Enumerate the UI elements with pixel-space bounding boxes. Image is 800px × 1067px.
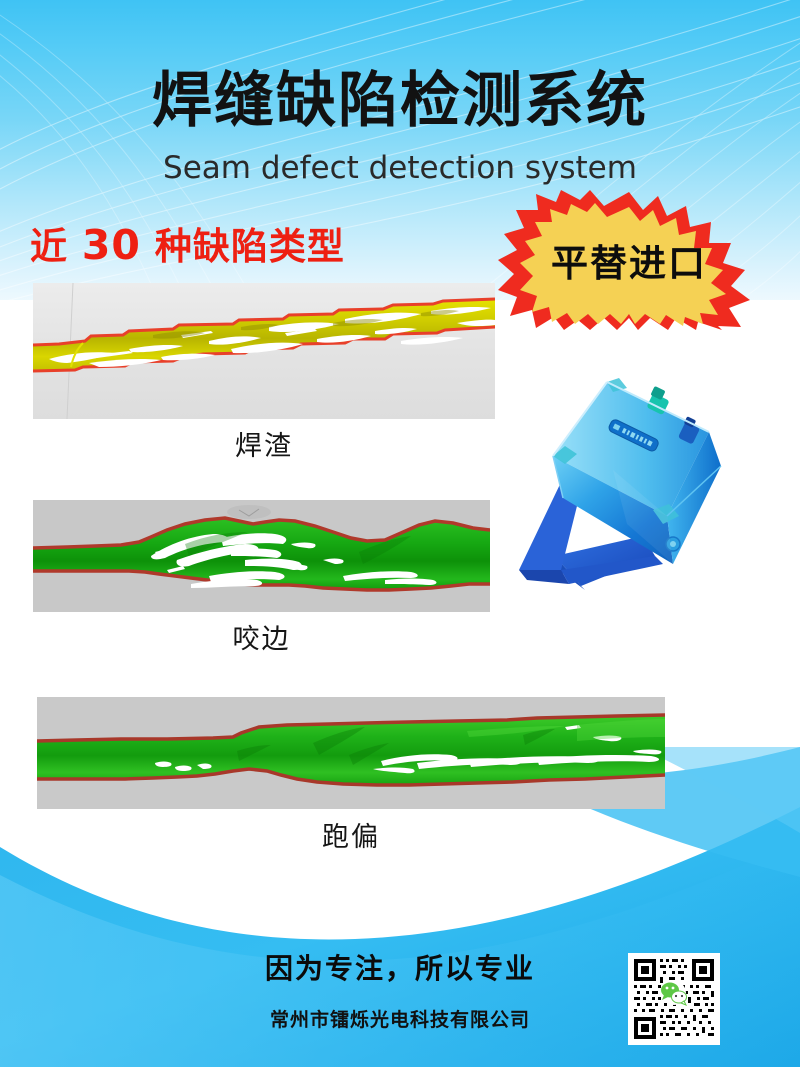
badge-label: 平替进口 xyxy=(498,190,760,330)
sample-weld-slag-image xyxy=(33,283,495,419)
wechat-qr-code-icon[interactable] xyxy=(628,953,720,1045)
sample-deviation-caption: 跑偏 xyxy=(37,815,665,854)
sample-undercut-caption: 咬边 xyxy=(33,617,490,656)
scanner-device-illustration xyxy=(495,358,730,603)
poster-root: 焊缝缺陷检测系统 Seam defect detection system 近 … xyxy=(0,0,800,1067)
sample-weld-slag-caption: 焊渣 xyxy=(33,424,495,463)
page-subtitle: Seam defect detection system xyxy=(0,150,800,186)
defect-type-count-headline: 近 30 种缺陷类型 xyxy=(30,216,345,270)
headline-number: 30 xyxy=(82,221,141,269)
import-substitute-badge: 平替进口 xyxy=(498,190,760,330)
headline-prefix: 近 xyxy=(30,225,68,268)
page-title: 焊缝缺陷检测系统 xyxy=(0,70,800,133)
headline-suffix: 种缺陷类型 xyxy=(155,225,345,268)
sample-deviation-image xyxy=(37,697,665,809)
sample-undercut-image xyxy=(33,500,490,612)
